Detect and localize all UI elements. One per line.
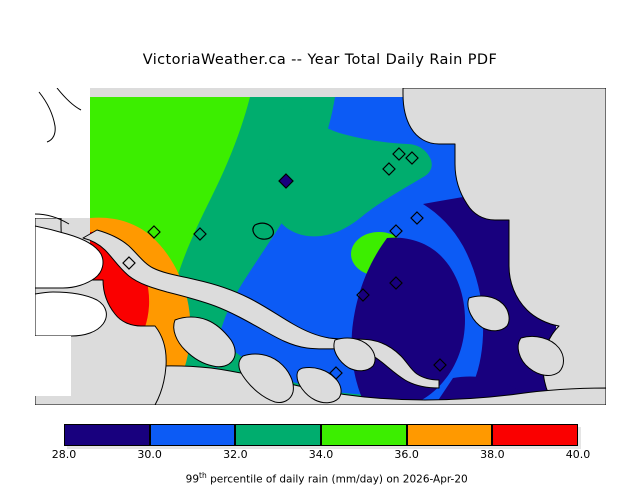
page-title: VictoriaWeather.ca -- Year Total Daily R… bbox=[0, 52, 640, 68]
colorbar-caption: 99th percentile of daily rain (mm/day) o… bbox=[0, 459, 640, 498]
contour-map bbox=[35, 88, 606, 405]
colorbar-band-5[interactable] bbox=[492, 424, 578, 446]
caption-superscript: th bbox=[199, 471, 207, 480]
nodata-bottom-left bbox=[35, 336, 71, 396]
colorbar-band-1[interactable] bbox=[150, 424, 236, 446]
colorbar-band-4[interactable] bbox=[407, 424, 493, 446]
colorbar-band-0[interactable] bbox=[64, 424, 150, 446]
colorbar-band-2[interactable] bbox=[235, 424, 321, 446]
figure-root: VictoriaWeather.ca -- Year Total Daily R… bbox=[0, 0, 640, 480]
nodata-top-left bbox=[35, 88, 90, 218]
colorbar[interactable] bbox=[64, 424, 578, 446]
map-panel bbox=[35, 88, 606, 405]
colorbar-band-3[interactable] bbox=[321, 424, 407, 446]
